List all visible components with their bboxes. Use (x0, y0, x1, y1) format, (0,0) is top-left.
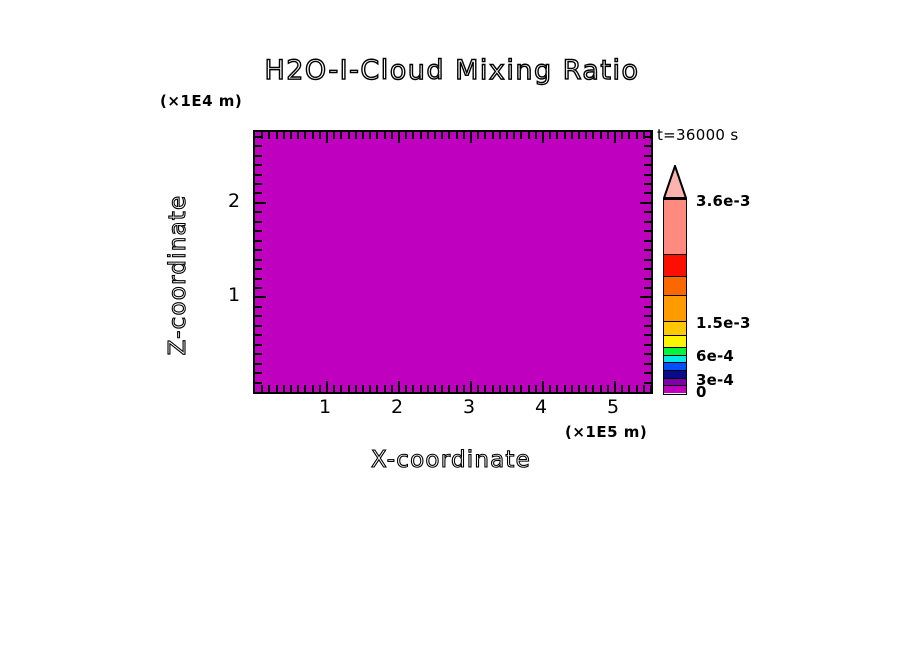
colorbar-band (664, 255, 686, 277)
colorbar-gradient (663, 199, 687, 395)
colorbar-band (664, 371, 686, 379)
colorbar-band (664, 386, 686, 393)
x-tick-label: 3 (463, 396, 475, 418)
y-tick-label: 2 (228, 190, 240, 212)
y-tick-label: 1 (228, 284, 240, 306)
colorbar: 3.6e-31.5e-36e-43e-40 (660, 165, 790, 400)
colorbar-band (664, 356, 686, 364)
y-axis-title: Z-coordinate (165, 170, 191, 380)
x-axis-title: X-coordinate (253, 447, 649, 473)
figure-canvas: H2O-I-Cloud Mixing Ratio (×1E4 m) (×1E5 … (0, 0, 904, 654)
colorbar-band (664, 200, 686, 255)
colorbar-band (664, 277, 686, 297)
colorbar-band (664, 296, 686, 322)
x-tick-label: 4 (535, 396, 547, 418)
x-axis-unit-label: (×1E5 m) (565, 423, 647, 441)
colorbar-tick-label: 1.5e-3 (696, 314, 751, 332)
time-annotation: t=36000 s (657, 126, 738, 144)
colorbar-band (664, 363, 686, 371)
colorbar-arrow-outline-icon (663, 165, 687, 199)
colorbar-tick-label: 3.6e-3 (696, 192, 751, 210)
colorbar-tick-label: 6e-4 (696, 347, 734, 365)
page-title: H2O-I-Cloud Mixing Ratio (0, 55, 904, 86)
plot-area (253, 130, 653, 394)
y-axis-unit-label: (×1E4 m) (160, 92, 242, 110)
colorbar-band (664, 322, 686, 336)
colorbar-band (664, 336, 686, 348)
contour-field (255, 132, 651, 392)
colorbar-band (664, 348, 686, 356)
x-tick-label: 1 (319, 396, 331, 418)
x-tick-label: 2 (391, 396, 403, 418)
x-tick-label: 5 (607, 396, 619, 418)
colorbar-tick-label: 0 (696, 383, 707, 401)
colorbar-band (664, 379, 686, 386)
